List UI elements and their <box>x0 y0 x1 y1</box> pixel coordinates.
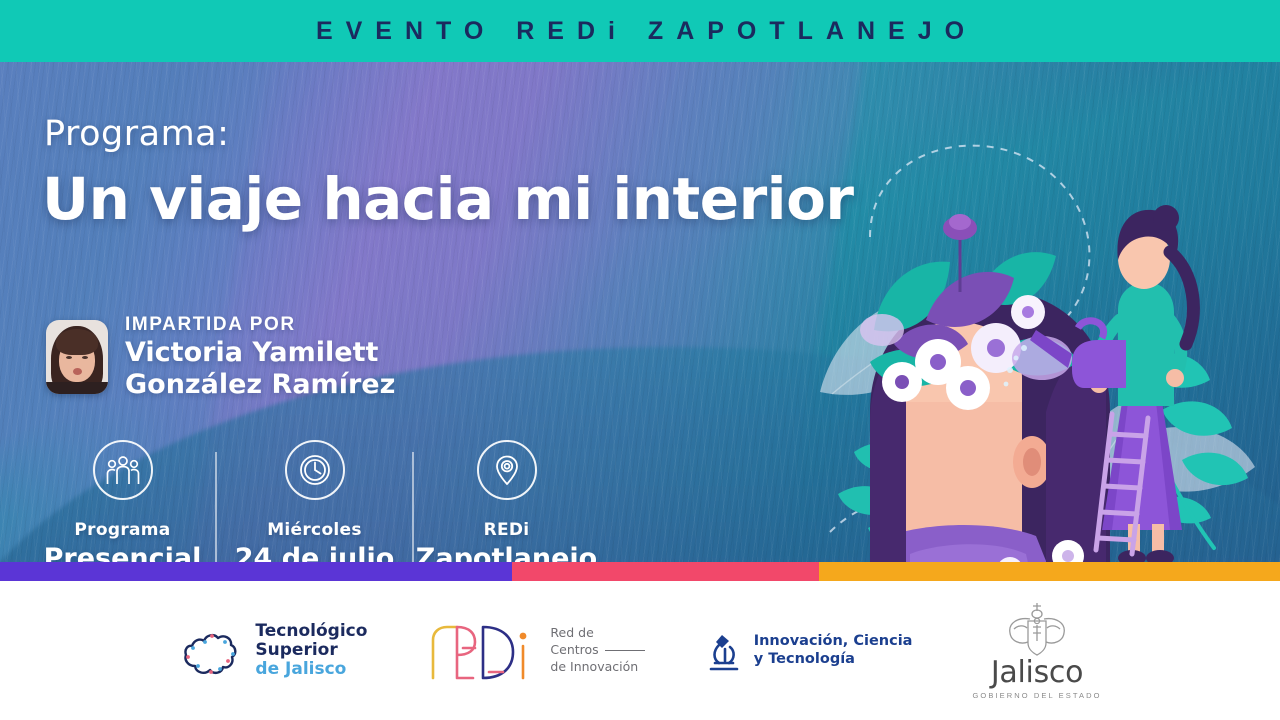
program-title: Un viaje hacia mi interior <box>42 165 854 233</box>
accent-bar-amber <box>819 562 1280 581</box>
accent-color-bar <box>0 562 1280 581</box>
hero-content: Programa: Un viaje hacia mi interior IMP… <box>0 62 820 581</box>
logo-tecnologico-superior-de-jalisco: Tecnológico Superior de Jalisco <box>178 621 367 681</box>
speaker-name-line1: Victoria Yamilett <box>125 338 395 368</box>
location-label: REDi <box>484 520 530 540</box>
logo-jalisco-gobierno: Jalisco GOBIERNO DEL ESTADO <box>972 601 1101 700</box>
modality-label: Programa <box>74 520 170 540</box>
speaker-name-line2: González Ramírez <box>125 370 395 400</box>
location-pin-icon <box>477 440 537 500</box>
event-poster: EVENTO REDi ZAPOTLANEJO <box>0 0 1280 720</box>
hero-illustration <box>810 62 1280 581</box>
speaker-avatar <box>46 320 108 394</box>
speaker-text: IMPARTIDA POR Victoria Yamilett González… <box>125 314 395 400</box>
detail-column-modality: Programa Presencial <box>30 440 215 574</box>
people-group-icon <box>93 440 153 500</box>
speaker-block: IMPARTIDA POR Victoria Yamilett González… <box>46 314 395 400</box>
avatar-eye-left <box>66 356 72 359</box>
ict-text: Innovación, Ciencia y Tecnología <box>754 633 913 667</box>
logo-redi: Red de Centros de Innovación <box>427 618 644 684</box>
redi-tagline: Red de Centros de Innovación <box>550 625 644 676</box>
avatar-hair-front <box>56 329 98 355</box>
ict-line2: y Tecnología <box>754 651 913 668</box>
date-weekday: Miércoles <box>267 520 362 540</box>
redi-line2: Centros <box>550 642 598 659</box>
top-banner: EVENTO REDi ZAPOTLANEJO <box>0 0 1280 62</box>
accent-bar-pink <box>512 562 819 581</box>
footer-logo-strip: Tecnológico Superior de Jalisco R <box>0 581 1280 720</box>
redi-line2-wrap: Centros <box>550 642 644 659</box>
tsj-line3: de Jalisco <box>255 660 367 679</box>
jalisco-map-icon <box>178 621 244 681</box>
top-banner-text: EVENTO REDi ZAPOTLANEJO <box>303 17 977 46</box>
hero-section: Programa: Un viaje hacia mi interior IMP… <box>0 62 1280 581</box>
avatar-eye-right <box>82 356 88 359</box>
tsj-line2: Superior <box>255 641 367 660</box>
detail-column-location: REDi Zapotlanejo <box>414 440 599 574</box>
microscope-icon <box>705 629 743 673</box>
redi-wordmark-icon <box>427 618 539 684</box>
jalisco-subtitle: GOBIERNO DEL ESTADO <box>972 691 1101 700</box>
tsj-line1: Tecnológico <box>255 622 367 641</box>
redi-line3: de Innovación <box>550 659 644 676</box>
redi-line1: Red de <box>550 625 644 642</box>
logo-innovacion-ciencia-tecnologia: Innovación, Ciencia y Tecnología <box>705 629 913 673</box>
speaker-label: IMPARTIDA POR <box>125 314 395 336</box>
tsj-text: Tecnológico Superior de Jalisco <box>255 622 367 679</box>
ict-line1: Innovación, Ciencia <box>754 633 913 650</box>
jalisco-wordmark: Jalisco <box>991 655 1083 690</box>
avatar-mouth <box>73 368 82 375</box>
avatar-clothing <box>46 382 108 394</box>
accent-bar-purple <box>0 562 512 581</box>
program-kicker: Programa: <box>44 114 229 154</box>
clock-icon <box>285 440 345 500</box>
redi-rule <box>605 650 645 651</box>
detail-column-date: Miércoles 24 de julio 10:00-12:00 h <box>217 440 412 581</box>
event-details: Programa Presencial Miércoles 24 de jul <box>30 440 599 581</box>
jalisco-coat-of-arms-icon <box>1000 601 1074 657</box>
